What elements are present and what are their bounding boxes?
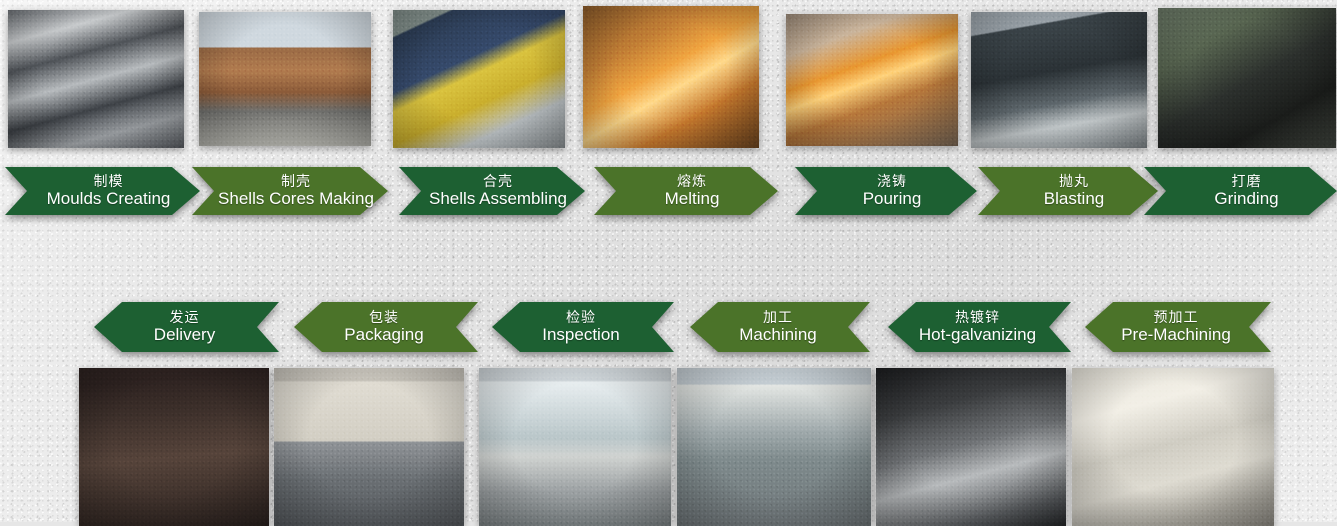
process-photos-row-2 — [0, 0, 1337, 522]
photo-vignette — [79, 368, 269, 526]
inspection-lab-photo — [479, 368, 671, 526]
packed-pallet-parts-photo — [274, 368, 464, 526]
photo-vignette — [677, 368, 871, 526]
galvanizing-bath-photo — [876, 368, 1066, 526]
cnc-machine-photo — [1072, 368, 1274, 526]
photo-vignette — [876, 368, 1066, 526]
container-loading-photo — [79, 368, 269, 526]
photo-vignette — [479, 368, 671, 526]
photo-vignette — [274, 368, 464, 526]
machining-workshop-photo — [677, 368, 871, 526]
photo-vignette — [1072, 368, 1274, 526]
